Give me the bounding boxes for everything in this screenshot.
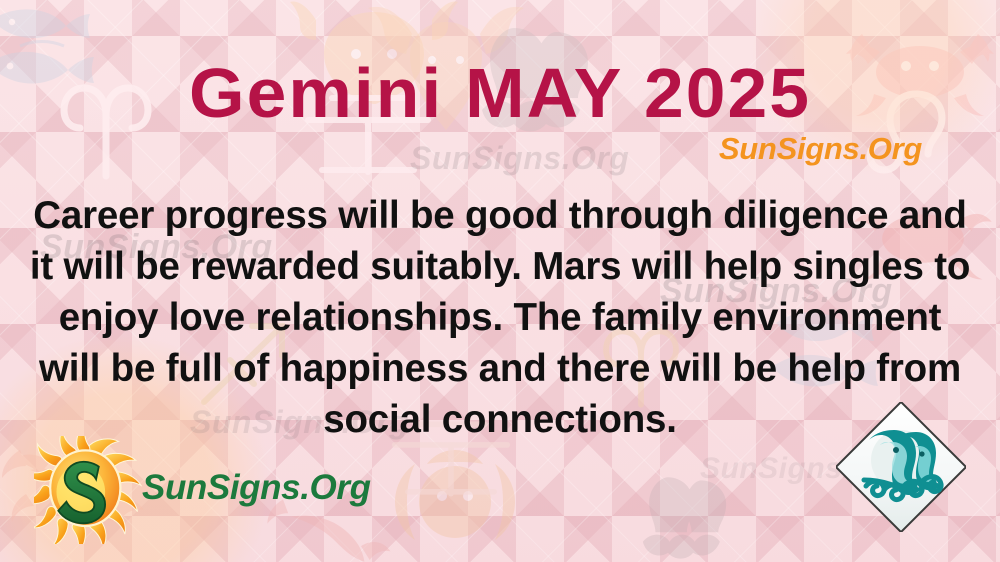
top-brand-watermark: SunSigns.Org [719, 131, 922, 167]
zodiac-sign-badge[interactable] [836, 402, 966, 532]
gemini-twins-icon [836, 402, 966, 532]
sunsigns-logo[interactable]: SunSigns.Org [34, 436, 371, 544]
sun-logo-icon [34, 436, 142, 544]
horoscope-body-text: Career progress will be good through dil… [28, 190, 972, 445]
logo-brand-text: SunSigns.Org [142, 468, 371, 508]
page-title: Gemini MAY 2025 [0, 58, 1000, 128]
horoscope-poster: SunSigns.Org SunSigns.Org SunSigns.Org S… [0, 0, 1000, 562]
